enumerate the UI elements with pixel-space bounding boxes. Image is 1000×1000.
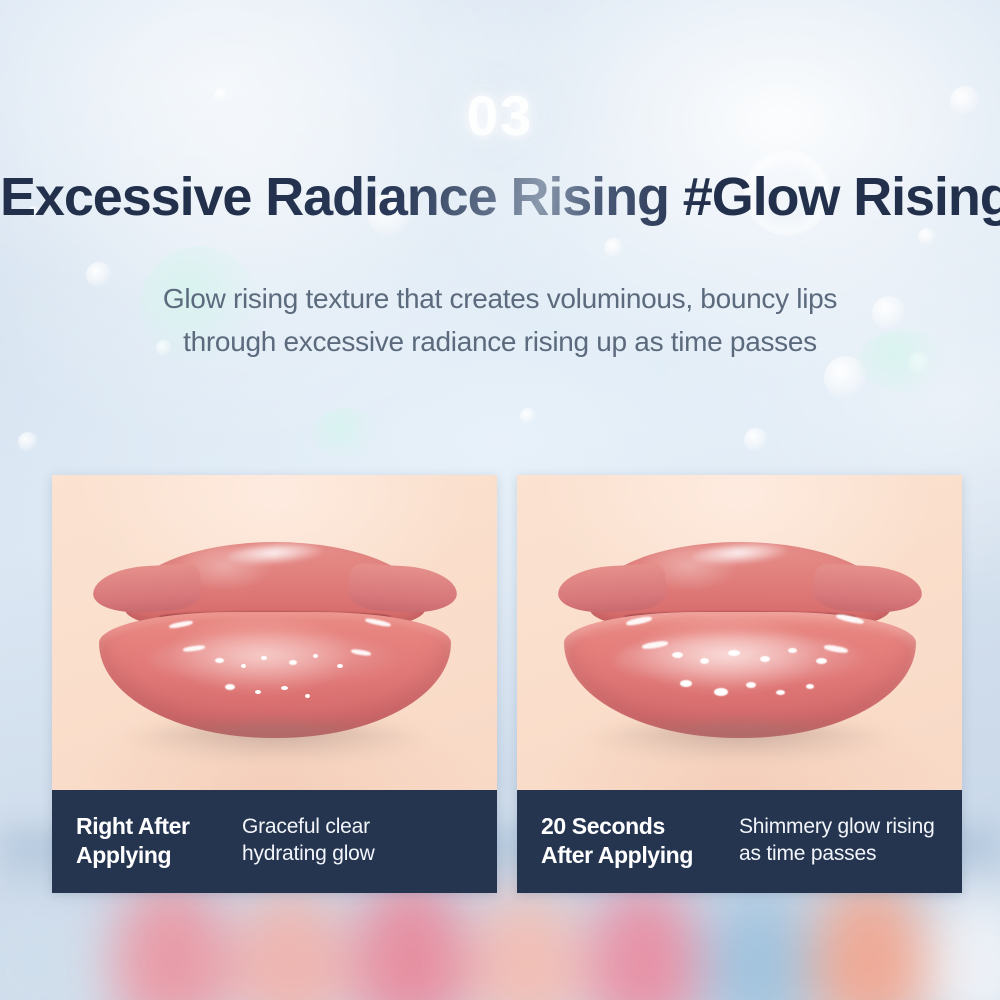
gloss-speckle — [241, 664, 246, 668]
lower-lip-gloss — [150, 634, 400, 686]
gloss-speckle — [680, 680, 692, 687]
product-blur — [706, 892, 810, 1000]
gloss-speckle — [261, 656, 267, 660]
comparison-card-20-seconds-after-applying: 20 Seconds After Applying Shimmery glow … — [517, 475, 962, 893]
upper-lip-left — [91, 563, 201, 615]
lip-under-shadow — [125, 722, 425, 760]
product-blur — [236, 888, 346, 1000]
gloss-speckle — [337, 664, 343, 668]
step-number: 03 — [0, 88, 1000, 144]
caption-timing-label: Right After Applying — [76, 812, 226, 871]
product-blur — [112, 880, 232, 1000]
gloss-speckle — [760, 656, 770, 662]
gloss-speckle — [728, 650, 740, 656]
upper-lip-right — [347, 563, 457, 615]
caption-bar: 20 Seconds After Applying Shimmery glow … — [517, 790, 962, 893]
lips-illustration — [65, 508, 485, 758]
product-blur — [928, 888, 1000, 1000]
gloss-speckle — [255, 690, 261, 694]
product-blur — [812, 880, 928, 1000]
gloss-speckle — [225, 684, 235, 690]
gloss-speckle — [806, 684, 814, 689]
gloss-speckle — [672, 652, 683, 658]
gloss-speckle — [289, 660, 297, 665]
gloss-speckle — [305, 694, 310, 698]
product-blur — [0, 898, 100, 1000]
lips-illustration — [530, 508, 950, 758]
upper-lip-right — [812, 563, 922, 615]
header-block: 03 Excessive Radiance Rising #Glow Risin… — [0, 0, 1000, 363]
gloss-speckle — [776, 690, 785, 695]
comparison-cards: Right After Applying Graceful clear hydr… — [52, 475, 962, 893]
subtitle-block: Glow rising texture that creates volumin… — [0, 278, 1000, 363]
gloss-speckle — [714, 688, 728, 696]
gloss-speckle — [700, 658, 709, 664]
gloss-speckle — [746, 682, 756, 688]
caption-bar: Right After Applying Graceful clear hydr… — [52, 790, 497, 893]
page-title: Excessive Radiance Rising #Glow Rising — [0, 168, 1000, 226]
product-blur — [352, 878, 470, 1000]
subtitle-line-2: through excessive radiance rising up as … — [0, 321, 1000, 364]
lip-photo-right-after-applying — [52, 475, 497, 790]
caption-description: Graceful clear hydrating glow — [242, 812, 375, 868]
lip-photo-20-seconds-after-applying — [517, 475, 962, 790]
gloss-speckle — [215, 658, 224, 663]
gloss-speckle — [816, 658, 827, 664]
subtitle-line-1: Glow rising texture that creates volumin… — [0, 278, 1000, 321]
product-blur — [588, 884, 700, 1000]
gloss-speckle — [281, 686, 288, 690]
upper-lip-left — [556, 563, 666, 615]
gloss-speckle — [313, 654, 318, 658]
product-blur — [474, 890, 582, 1000]
lip-under-shadow — [590, 722, 890, 760]
caption-description: Shimmery glow rising as time passes — [739, 812, 935, 868]
caption-timing-label: 20 Seconds After Applying — [541, 812, 727, 871]
comparison-card-right-after-applying: Right After Applying Graceful clear hydr… — [52, 475, 497, 893]
gloss-speckle — [788, 648, 797, 653]
